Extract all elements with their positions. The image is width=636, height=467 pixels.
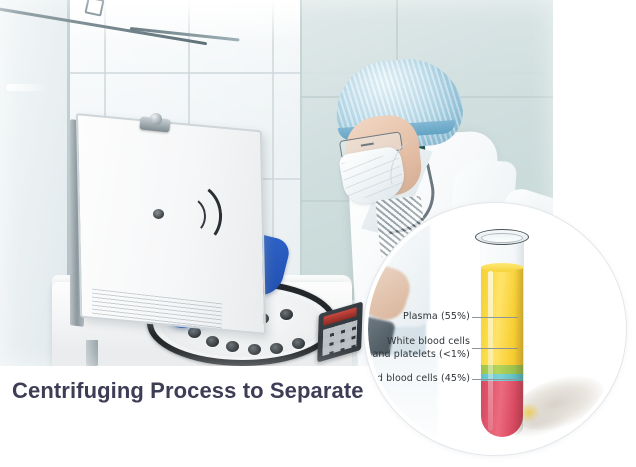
label-wbc-line-1: White blood cells bbox=[373, 335, 470, 348]
label-wbc-line-2: and platelets (<1%) bbox=[373, 348, 470, 361]
rotor-tube-slot bbox=[226, 341, 239, 352]
rotor-tube-slot bbox=[248, 344, 261, 355]
label-red-blood-cells: Red blood cells (45%) bbox=[368, 373, 470, 385]
leader-line-red-blood-cells bbox=[472, 379, 518, 380]
rotor-tube-slot bbox=[270, 343, 283, 354]
label-plasma: Plasma (55%) bbox=[403, 311, 470, 323]
rotor-tube-slot bbox=[280, 309, 293, 320]
rotor-tube-slot bbox=[292, 338, 305, 349]
centrifuge-support-leg bbox=[86, 340, 98, 366]
page-root: Centrifuging Process to Separate bbox=[0, 0, 636, 467]
separated-blood-tube-diagram: Plasma (55%) White blood cells and plate… bbox=[364, 203, 626, 455]
lid-viewing-port bbox=[153, 209, 164, 219]
rotor-tube-slot bbox=[206, 336, 219, 347]
tube-label-group: Plasma (55%) White blood cells and plate… bbox=[368, 207, 622, 451]
label-white-blood-cells: White blood cells and platelets (<1%) bbox=[373, 335, 470, 361]
control-panel-keypad[interactable] bbox=[322, 320, 357, 356]
leader-line-white-blood-cells bbox=[472, 348, 518, 349]
leader-line-plasma bbox=[472, 317, 518, 318]
wall-light-reflection bbox=[6, 84, 48, 91]
inset-canvas: Plasma (55%) White blood cells and plate… bbox=[368, 207, 622, 451]
centrifuge-lid-knob[interactable] bbox=[150, 113, 162, 125]
page-title: Centrifuging Process to Separate bbox=[12, 378, 364, 404]
